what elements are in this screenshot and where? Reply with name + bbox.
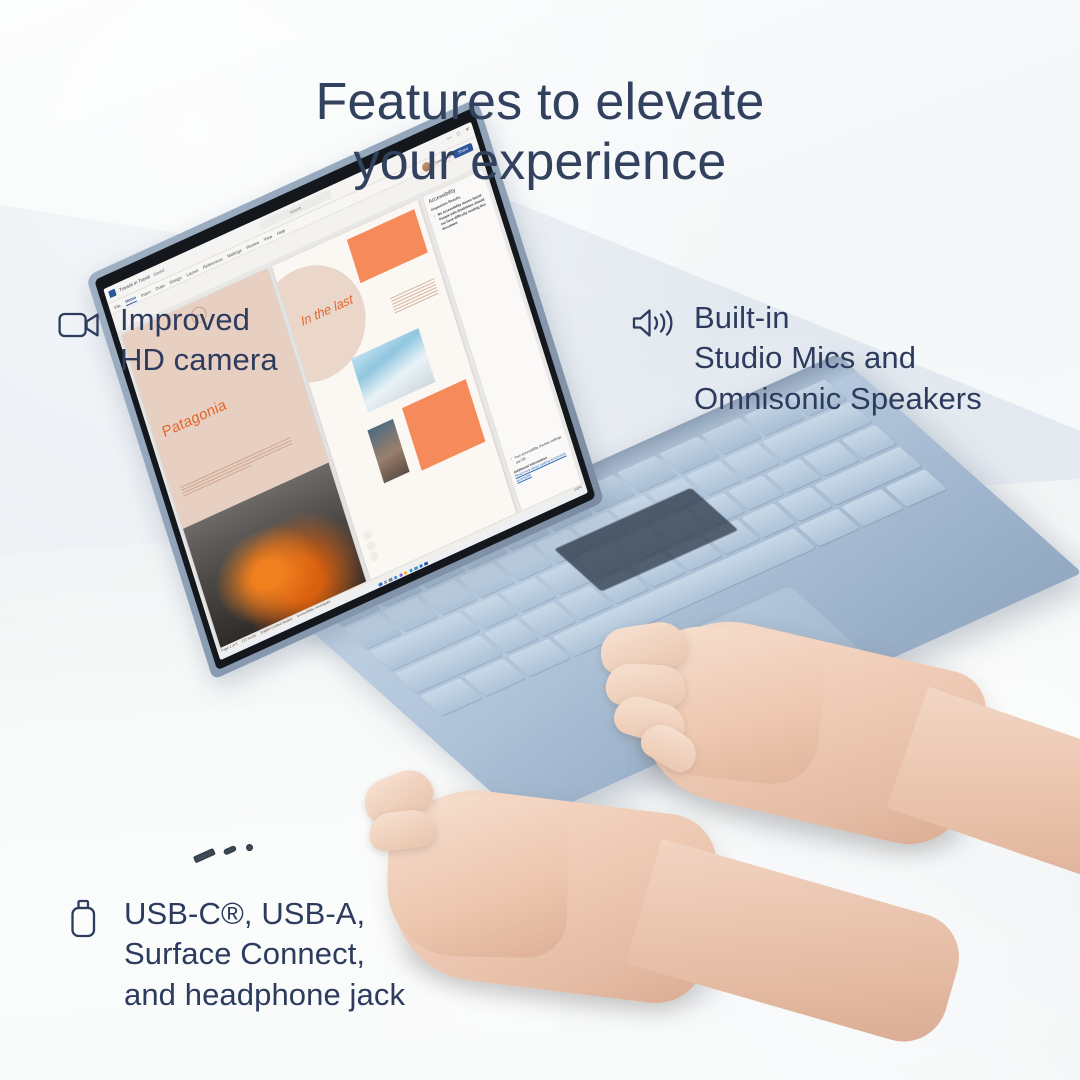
explorer-icon[interactable] xyxy=(404,570,408,575)
headphone-jack xyxy=(245,843,254,852)
feature-camera-label: Improved HD camera xyxy=(120,300,278,381)
speaker-waves-icon xyxy=(632,302,674,344)
tab-help[interactable]: Help xyxy=(276,227,285,235)
chat-icon[interactable] xyxy=(399,573,403,578)
portrait-photo xyxy=(367,419,410,484)
tab-insert[interactable]: Insert xyxy=(140,288,151,297)
promo-graphic: Features to elevate your experience xyxy=(0,0,1080,1080)
word-icon[interactable] xyxy=(424,561,428,566)
orange-block-mid xyxy=(402,379,486,471)
tab-draw[interactable]: Draw xyxy=(155,282,165,291)
volcano-lava-photo xyxy=(183,463,366,648)
page-title: Features to elevate your experience xyxy=(0,72,1080,193)
page-title-line-1: Features to elevate xyxy=(316,73,765,131)
usb-plug-icon xyxy=(62,898,104,940)
video-camera-icon xyxy=(58,304,100,346)
feature-audio-label: Built-in Studio Mics and Omnisonic Speak… xyxy=(694,298,982,419)
edge-icon[interactable] xyxy=(409,568,413,573)
word-app-icon xyxy=(108,289,116,299)
feature-ports-label: USB-C®, USB-A, Surface Connect, and head… xyxy=(124,894,405,1015)
task-view-icon[interactable] xyxy=(389,577,393,582)
body-text-lines xyxy=(390,278,439,315)
page-heading: Patagonia xyxy=(160,396,228,441)
accessibility-footer: Your accessibility checker settings are … xyxy=(509,434,569,484)
search-icon[interactable] xyxy=(383,580,387,585)
decorative-dots xyxy=(363,529,381,564)
save-state-label: Saved xyxy=(153,267,165,277)
feature-camera: Improved HD camera xyxy=(58,300,278,381)
usb-a-port xyxy=(193,848,216,863)
page-title-line-2: your experience xyxy=(0,132,1080,192)
start-icon[interactable] xyxy=(378,582,382,587)
orange-block-top xyxy=(347,209,428,283)
mail-icon[interactable] xyxy=(419,563,423,568)
feature-ports: USB-C®, USB-A, Surface Connect, and head… xyxy=(62,894,405,1015)
usb-c-port xyxy=(223,845,237,856)
store-icon[interactable] xyxy=(414,566,418,571)
tab-view[interactable]: View xyxy=(263,233,273,242)
feature-audio: Built-in Studio Mics and Omnisonic Speak… xyxy=(632,298,982,419)
widgets-icon[interactable] xyxy=(394,575,398,580)
